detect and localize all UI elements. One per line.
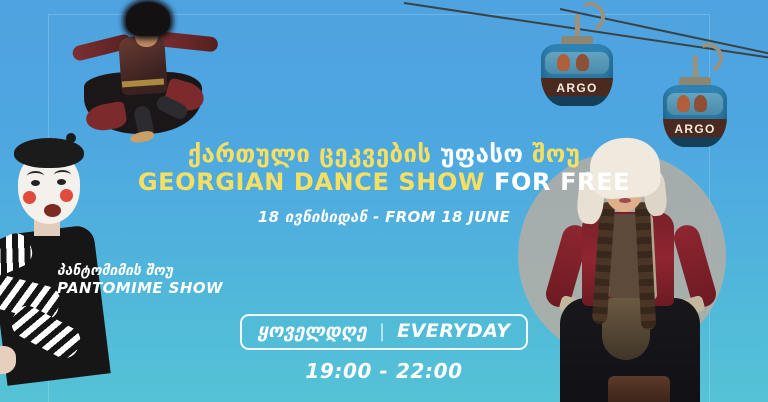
- gondola-brand-label: ARGO: [674, 122, 715, 136]
- headline-georgian-part-3: შოუ: [532, 140, 580, 168]
- headline-english-part-2: FOR FREE: [494, 168, 630, 196]
- gondola-brand-band: ARGO: [663, 119, 727, 139]
- gondola-passenger: [694, 95, 707, 112]
- headline-georgian-part-1: ქართული ცეკვების: [188, 140, 432, 168]
- everyday-separator: |: [379, 321, 385, 342]
- schedule-block: ყოველდღე | EVERYDAY 19:00 - 22:00: [0, 314, 768, 383]
- headline-georgian-line: ქართული ცეკვების უფასო შოუ: [0, 142, 768, 167]
- poster-banner: ARGO ARGO: [0, 0, 768, 402]
- male-dancer-illustration: [78, 0, 228, 144]
- gondola-cabin: ARGO: [541, 44, 613, 106]
- headline-english-line: GEORGIAN DANCE SHOW FOR FREE: [0, 170, 768, 195]
- gondola-base: [541, 96, 613, 106]
- gondola-brand-band: ARGO: [541, 78, 613, 98]
- event-date-line: 18 ივნისიდან - FROM 18 JUNE: [0, 208, 768, 226]
- event-time-range: 19:00 - 22:00: [0, 359, 768, 383]
- headline-georgian-part-2: უფასო: [440, 140, 523, 168]
- everyday-english-label: EVERYDAY: [397, 320, 510, 342]
- gondola-passenger: [576, 54, 589, 71]
- gondola-passenger: [677, 95, 690, 112]
- everyday-badge: ყოველდღე | EVERYDAY: [240, 314, 529, 350]
- headline-english-part-1: GEORGIAN DANCE SHOW: [138, 168, 485, 196]
- gondola-brand-label: ARGO: [556, 81, 597, 95]
- pantomime-georgian-label: პანტომიმის შოუ: [57, 264, 223, 280]
- pantomime-show-label: პანტომიმის შოუ PANTOMIME SHOW: [57, 264, 223, 296]
- pantomime-english-label: PANTOMIME SHOW: [57, 280, 223, 297]
- headline-block: ქართული ცეკვების უფასო შოუ GEORGIAN DANC…: [0, 142, 768, 226]
- fur-hat-icon: [126, 2, 170, 36]
- everyday-georgian-label: ყოველდღე: [258, 320, 367, 342]
- gondola-passenger: [557, 54, 570, 71]
